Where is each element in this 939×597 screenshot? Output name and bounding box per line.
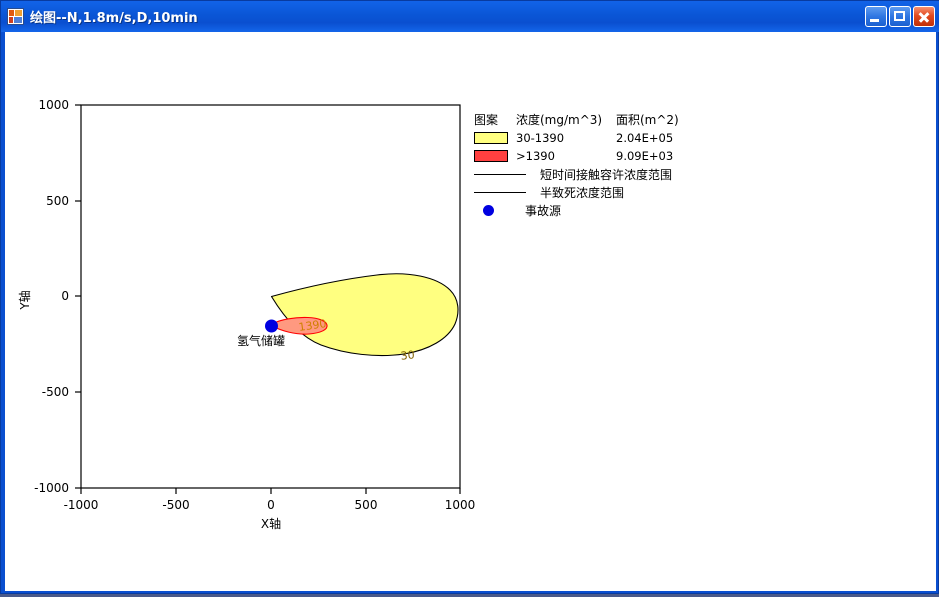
y-axis-label: Y轴 <box>17 290 32 310</box>
legend-row-red: >1390 9.09E+03 <box>474 147 704 165</box>
legend-row-stel: 短时间接触容许浓度范围 <box>474 165 704 183</box>
legend-swatch-red-cell <box>474 150 516 162</box>
x-tick-label: -1000 <box>64 498 99 512</box>
legend-source-dot-icon <box>483 205 494 216</box>
legend-conc-red: >1390 <box>516 149 616 163</box>
y-axis-ticks <box>75 105 81 488</box>
x-tick-labels: -1000 -500 0 500 1000 <box>64 498 476 512</box>
legend-area-red: 9.09E+03 <box>616 149 696 163</box>
x-tick-label: -500 <box>162 498 189 512</box>
y-tick-label: -500 <box>42 385 69 399</box>
window-controls <box>865 6 935 27</box>
close-button[interactable] <box>913 6 935 27</box>
app-chart-icon <box>7 8 24 25</box>
x-tick-label: 1000 <box>445 498 476 512</box>
y-tick-label: 0 <box>61 289 69 303</box>
legend-row-yellow: 30-1390 2.04E+05 <box>474 129 704 147</box>
accident-source-marker[interactable] <box>265 320 278 333</box>
contour-label-30: 30 <box>400 348 415 362</box>
legend-swatch-yellow <box>474 132 508 144</box>
legend-swatch-yellow-cell <box>474 132 516 144</box>
legend-header-concentration: 浓度(mg/m^3) <box>516 111 616 128</box>
minimize-icon <box>870 19 879 22</box>
legend-area-yellow: 2.04E+05 <box>616 131 696 145</box>
x-axis-label: X轴 <box>261 516 281 531</box>
x-tick-label: 500 <box>355 498 378 512</box>
source-point-label: 氢气储罐 <box>237 333 285 348</box>
application-window: 绘图--N,1.8m/s,D,10min <box>0 0 939 594</box>
legend-header-area: 面积(m^2) <box>616 111 696 128</box>
legend-label-lc50: 半致死浓度范围 <box>532 184 624 201</box>
legend-panel: 图案 浓度(mg/m^3) 面积(m^2) 30-1390 2.04E+05 >… <box>474 110 704 219</box>
y-tick-labels: 1000 500 0 -500 -1000 <box>34 98 69 495</box>
y-tick-label: 500 <box>46 194 69 208</box>
legend-label-stel: 短时间接触容许浓度范围 <box>532 166 672 183</box>
y-tick-label: 1000 <box>38 98 69 112</box>
dispersion-plot: 1000 500 0 -500 -1000 -1000 -500 0 500 1… <box>5 32 936 591</box>
legend-row-lc50: 半致死浓度范围 <box>474 183 704 201</box>
client-area: 1000 500 0 -500 -1000 -1000 -500 0 500 1… <box>5 32 936 591</box>
legend-conc-yellow: 30-1390 <box>516 131 616 145</box>
title-bar[interactable]: 绘图--N,1.8m/s,D,10min <box>1 1 939 32</box>
maximize-icon <box>894 11 905 21</box>
legend-row-source: 事故源 <box>474 201 704 219</box>
minimize-button[interactable] <box>865 6 887 27</box>
legend-label-source: 事故源 <box>516 202 561 219</box>
legend-header-pattern: 图案 <box>474 111 516 128</box>
legend-line-stel-icon <box>474 174 526 175</box>
maximize-button[interactable] <box>889 6 911 27</box>
legend-header-row: 图案 浓度(mg/m^3) 面积(m^2) <box>474 110 704 129</box>
y-tick-label: -1000 <box>34 481 69 495</box>
legend-source-dot-cell <box>474 205 516 216</box>
legend-line-stel-cell <box>474 174 532 175</box>
legend-line-lc50-cell <box>474 192 532 193</box>
legend-swatch-red <box>474 150 508 162</box>
x-tick-label: 0 <box>267 498 275 512</box>
legend-line-lc50-icon <box>474 192 526 193</box>
x-axis-ticks <box>81 488 460 494</box>
window-title: 绘图--N,1.8m/s,D,10min <box>30 7 198 26</box>
